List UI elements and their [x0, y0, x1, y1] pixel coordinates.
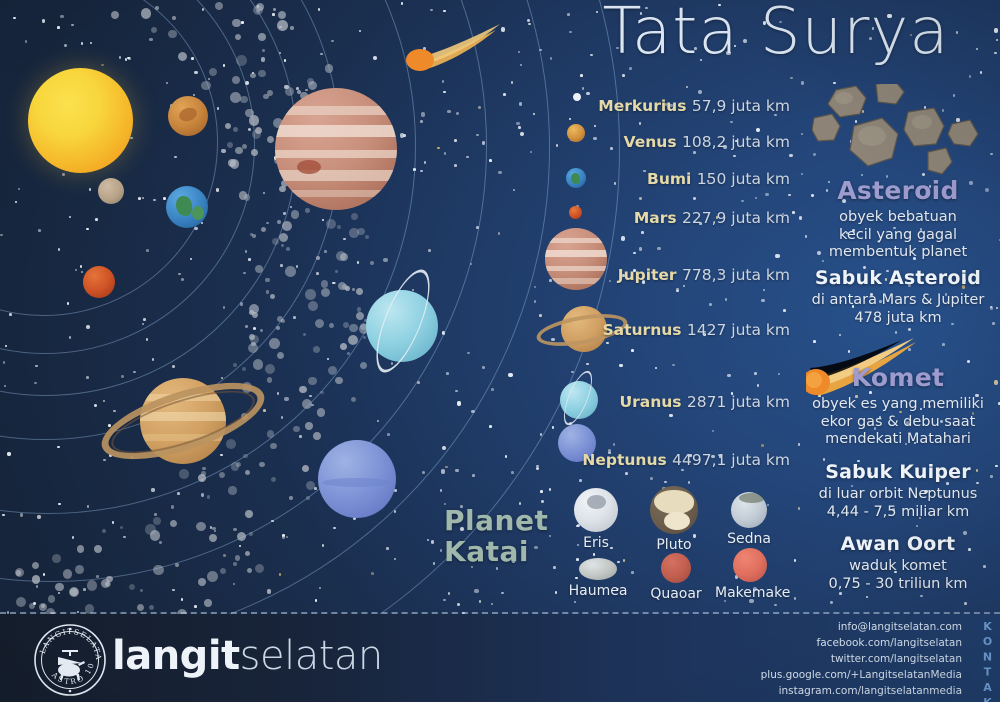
planet-venus-scale	[567, 124, 585, 142]
sabuk-kuiper-desc-line: 4,44 - 7,5 miliar km	[800, 504, 996, 522]
makemake-label: Makemake	[715, 585, 785, 601]
planet-distance: 150 juta km	[697, 170, 790, 188]
dwarf-planet-haumea: Haumea	[563, 558, 633, 599]
planet-mars-scale	[569, 206, 582, 219]
planet-list-item: Mars 227,9 juta km	[634, 209, 790, 227]
contact-instagram[interactable]: instagram.com/langitselatanmedia	[722, 684, 962, 700]
sabuk-kuiper-desc-line: di luar orbit Neptunus	[800, 486, 996, 504]
komet-desc-line: mendekati Matahari	[800, 431, 996, 449]
planet-distance: 227,9 juta km	[682, 209, 790, 227]
planet-list-item: Bumi 150 juta km	[647, 170, 790, 188]
awan-oort-desc-line: waduk komet	[800, 558, 996, 576]
sabuk-kuiper-heading: Sabuk Kuiper	[800, 461, 996, 483]
sedna-label: Sedna	[714, 531, 784, 547]
contact-facebook[interactable]: facebook.com/langitselatan	[722, 636, 962, 652]
dwarf-heading-line2: Katai	[444, 536, 564, 567]
dwarf-planet-makemake: Makemake	[715, 548, 785, 601]
haumea-body	[579, 558, 617, 580]
planet-name: Mars	[634, 209, 677, 227]
asteroid-section: Asteroid obyek bebatuan kecil yang gagal…	[800, 176, 996, 262]
dwarf-heading-line1: Planet	[444, 505, 564, 536]
komet-desc-line: obyek es yang memiliki	[800, 396, 996, 414]
awan-oort-desc-line: 0,75 - 30 triliun km	[800, 576, 996, 594]
planet-name: Uranus	[620, 393, 682, 411]
brand-light-text: selatan	[240, 633, 383, 679]
komet-heading: Komet	[800, 363, 996, 392]
sabuk-asteroid-section: Sabuk Asteroid di antara Mars & Jupiter …	[800, 267, 996, 327]
planet-list-item: Neptunus 4497,1 juta km	[582, 451, 790, 469]
planet-list-item: Venus 108,2 juta km	[624, 133, 790, 151]
sabuk-asteroid-desc-line: 478 juta km	[800, 310, 996, 328]
planet-distance: 778,3 juta km	[682, 266, 790, 284]
planet-list-item: Jupiter 778,3 juta km	[618, 266, 790, 284]
jupiter-scale-bands	[545, 228, 607, 290]
earth-scale-continent	[571, 173, 580, 184]
awan-oort-section: Awan Oort waduk komet 0,75 - 30 triliun …	[800, 533, 996, 593]
planet-name: Bumi	[647, 170, 691, 188]
haumea-label: Haumea	[563, 583, 633, 599]
asteroid-desc-line: obyek bebatuan	[800, 209, 996, 227]
planet-name: Saturnus	[602, 321, 681, 339]
pluto-body	[650, 486, 698, 534]
eris-body	[574, 488, 618, 532]
svg-text:LANGITSELATAN: LANGITSELATAN	[32, 622, 103, 661]
contact-googleplus[interactable]: plus.google.com/+LangitselatanMedia	[722, 668, 962, 684]
contact-list: info@langitselatan.com facebook.com/lang…	[722, 620, 962, 700]
contact-twitter[interactable]: twitter.com/langitselatan	[722, 652, 962, 668]
sedna-body	[731, 492, 767, 528]
asteroid-cluster	[812, 84, 998, 176]
planet-name: Merkurius	[598, 97, 686, 115]
footer-divider	[0, 612, 1000, 614]
logo-badge-icon: LANGITSELATAN ASTRO 101	[32, 622, 108, 698]
contact-email[interactable]: info@langitselatan.com	[722, 620, 962, 636]
sabuk-kuiper-section: Sabuk Kuiper di luar orbit Neptunus 4,44…	[800, 461, 996, 521]
brand-bold-text: langit	[112, 633, 240, 679]
pluto-label: Pluto	[639, 537, 709, 553]
planet-distance: 108,2 juta km	[682, 133, 790, 151]
eris-label: Eris	[561, 535, 631, 551]
brand-wordmark: langitselatan	[112, 636, 383, 676]
sabuk-asteroid-heading: Sabuk Asteroid	[800, 267, 996, 289]
makemake-body	[733, 548, 767, 582]
planet-list-item: Merkurius 57,9 juta km	[598, 97, 790, 115]
komet-section: Komet obyek es yang memiliki ekor gas & …	[800, 363, 996, 449]
planet-list-item: Uranus 2871 juta km	[620, 393, 791, 411]
dwarf-planet-sedna: Sedna	[714, 492, 784, 547]
asteroid-desc-line: kecil yang gagal	[800, 227, 996, 245]
planet-merkurius-scale	[573, 93, 581, 101]
planet-name: Neptunus	[582, 451, 666, 469]
planet-list-item: Saturnus 1427 juta km	[602, 321, 790, 339]
planet-distance: 2871 juta km	[687, 393, 790, 411]
planet-distance: 4497,1 juta km	[672, 451, 790, 469]
asteroid-heading: Asteroid	[800, 176, 996, 205]
komet-desc-line: ekor gas & debu saat	[800, 414, 996, 432]
dwarf-planet-heading: Planet Katai	[444, 505, 564, 568]
dwarf-planet-eris: Eris	[561, 488, 631, 551]
dwarf-planet-quaoar: Quaoar	[641, 553, 711, 602]
solar-system-infographic: Tata Surya Mer	[0, 0, 1000, 702]
sabuk-asteroid-desc-line: di antara Mars & Jupiter	[800, 292, 996, 310]
dwarf-planet-pluto: Pluto	[639, 486, 709, 553]
planet-distance: 57,9 juta km	[692, 97, 790, 115]
planet-distance: 1427 juta km	[687, 321, 790, 339]
kontak-label: KONTAK	[981, 620, 994, 702]
quaoar-label: Quaoar	[641, 586, 711, 602]
quaoar-body	[661, 553, 691, 583]
asteroid-desc-line: membentuk planet	[800, 244, 996, 262]
langitselatan-logo-badge[interactable]: LANGITSELATAN ASTRO 101	[32, 622, 108, 698]
awan-oort-heading: Awan Oort	[800, 533, 996, 555]
planet-uranus-scale	[546, 370, 610, 428]
planet-name: Venus	[624, 133, 677, 151]
planet-name: Jupiter	[618, 266, 677, 284]
